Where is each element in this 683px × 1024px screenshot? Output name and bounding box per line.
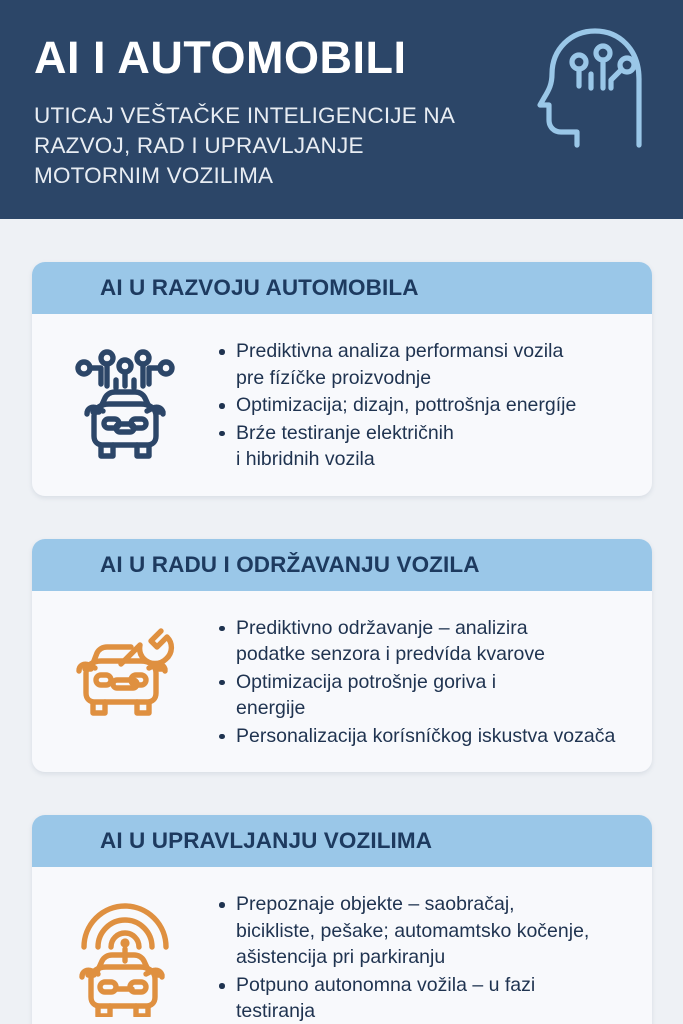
section-header-bar: AI U RADU I ODRŽAVANJU VOZILA	[32, 539, 652, 591]
header-banner: AI I AUTOMOBILI UTICAJ VEŠTAČKE INTELIGE…	[0, 0, 683, 219]
bullet-dot-icon	[219, 902, 225, 908]
bullet-dot-icon	[219, 983, 225, 989]
section-title: AI U RADU I ODRŽAVANJU VOZILA	[100, 552, 480, 578]
bullet-line: Optimizacija potrošnje goriva i	[236, 669, 634, 696]
subtitle-line-3: MOTORNIM VOZILIMA	[34, 161, 649, 191]
section-icon-wrapper	[32, 885, 217, 1017]
section-header-bar: AI U UPRAVLJANJU VOZILIMA	[32, 815, 652, 867]
section-body: Prediktivna analiza performansi vozila p…	[32, 314, 652, 496]
bullet-line: i hibridnih vozila	[236, 446, 634, 473]
list-item: Brźe testiranje električnih i hibridnih …	[217, 420, 634, 473]
bullet-line: ašistencija pri parkiranju	[236, 944, 634, 971]
section-header-bar: AI U RAZVOJU AUTOMOBILA	[32, 262, 652, 314]
list-item: Optimizacija; dizajn, pottrošnja energíj…	[217, 392, 634, 419]
section-body: Prepoznaje objekte – saobračaj, biciklis…	[32, 867, 652, 1024]
list-item: Prediktivna analiza performansi vozila p…	[217, 338, 634, 391]
section-bullets: Prediktivno održavanje – analizira podat…	[217, 609, 638, 751]
bullet-line: Prediktivno održavanje – analizira	[236, 615, 634, 642]
infographic-page: AI I AUTOMOBILI UTICAJ VEŠTAČKE INTELIGE…	[0, 0, 683, 1024]
section-bullets: Prepoznaje objekte – saobračaj, biciklis…	[217, 885, 638, 1024]
section-icon-wrapper	[32, 332, 217, 464]
list-item: Personalizacija korísníčkog iskustva voz…	[217, 723, 634, 750]
car-circuit-icon	[71, 346, 179, 464]
bullet-line: podatke senzora i predvída kvarove	[236, 641, 634, 668]
bullet-line: testiranja	[236, 998, 634, 1024]
bullet-dot-icon	[219, 626, 225, 632]
section-icon-wrapper	[32, 609, 217, 723]
bullet-line: pre fízíčke proizvodnje	[236, 365, 634, 392]
bullet-dot-icon	[219, 349, 225, 355]
bullet-line: Brźe testiranje električnih	[236, 420, 634, 447]
car-radar-sensor-icon	[72, 899, 178, 1017]
bullet-line: energije	[236, 695, 634, 722]
list-item: Prediktivno održavanje – analizira podat…	[217, 615, 634, 668]
bullet-line: Prepoznaje objekte – saobračaj,	[236, 891, 634, 918]
list-item: Prepoznaje objekte – saobračaj, biciklis…	[217, 891, 634, 971]
bullet-line: Potpuno autonomna vožila – u fazi	[236, 972, 634, 999]
bullet-line: Personalizacija korísníčkog iskustva voz…	[236, 723, 634, 750]
bullet-line: Prediktivna analiza performansi vozila	[236, 338, 634, 365]
section-card-development: AI U RAZVOJU AUTOMOBILA	[32, 262, 652, 496]
bullet-line: Optimizacija; dizajn, pottrošnja energíj…	[236, 392, 634, 419]
list-item: Optimizacija potrošnje goriva i energije	[217, 669, 634, 722]
list-item: Potpuno autonomna vožila – u fazi testir…	[217, 972, 634, 1024]
bullet-dot-icon	[219, 403, 225, 409]
section-bullets: Prediktivna analiza performansi vozila p…	[217, 332, 638, 474]
bullet-line: bicikliste, pešake; automamtsko kočenje,	[236, 918, 634, 945]
bullet-dot-icon	[219, 680, 225, 686]
section-body: Prediktivno održavanje – analizira podat…	[32, 591, 652, 773]
section-card-operation-maintenance: AI U RADU I ODRŽAVANJU VOZILA	[32, 539, 652, 773]
section-title: AI U UPRAVLJANJU VOZILIMA	[100, 828, 432, 854]
bullet-dot-icon	[219, 431, 225, 437]
bullet-dot-icon	[219, 734, 225, 740]
brain-head-circuit-icon	[535, 22, 653, 150]
car-wrench-icon	[69, 623, 181, 723]
sections-list: AI U RAZVOJU AUTOMOBILA	[0, 219, 683, 1024]
section-title: AI U RAZVOJU AUTOMOBILA	[100, 275, 419, 301]
section-card-driving: AI U UPRAVLJANJU VOZILIMA	[32, 815, 652, 1024]
